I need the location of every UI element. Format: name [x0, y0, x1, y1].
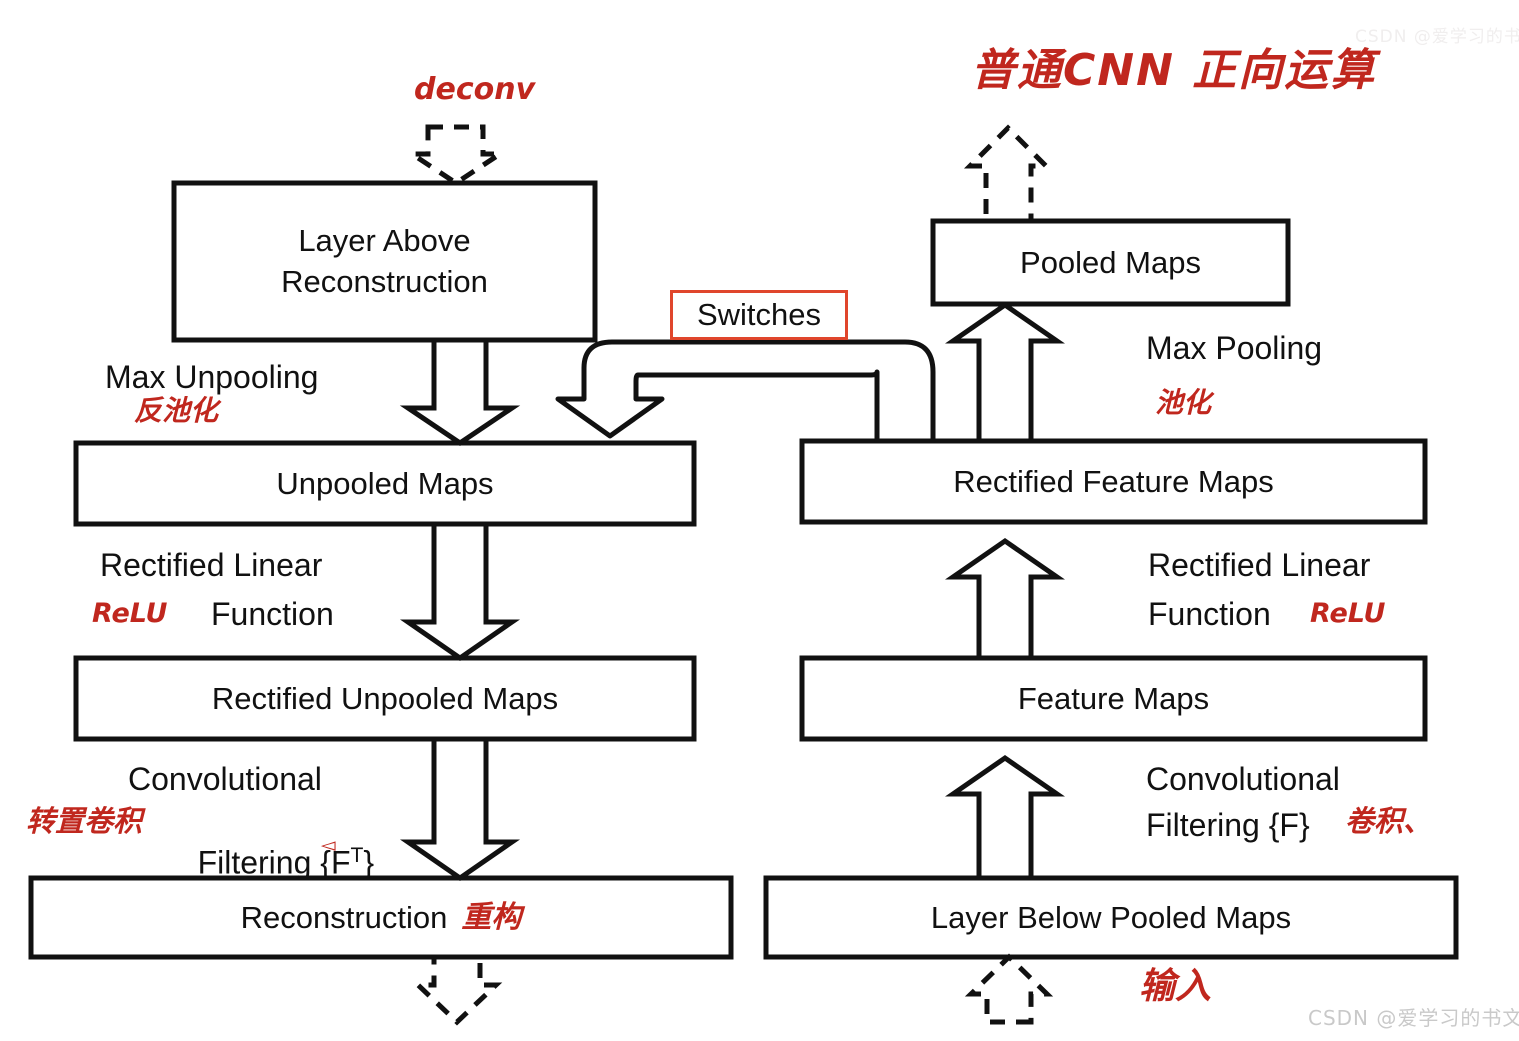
- op-relu-left-cn: ReLU: [92, 600, 167, 628]
- op-relu-right-line1: Rectified Linear: [1148, 548, 1370, 584]
- op-conv-left-cn: 转置卷积: [26, 806, 142, 836]
- op-relu-right-line2: Function: [1148, 597, 1271, 633]
- op-conv-right-line2: Filtering {F}: [1146, 808, 1310, 844]
- box-layer-above-reconstruction: [174, 183, 595, 340]
- op-conv-left-line1: Convolutional: [128, 762, 322, 798]
- arrow-max-unpooling: [408, 340, 512, 443]
- annotation-input: 输入: [1139, 968, 1211, 1006]
- annotation-deconv: deconv: [414, 74, 535, 106]
- op-max-unpooling: Max Unpooling: [105, 360, 318, 396]
- dashed-arrow-reconstruction-output: [418, 957, 496, 1022]
- op-conv-left-line2: Filtering {FT}: [162, 808, 374, 917]
- op-max-unpooling-cn: 反池化: [134, 396, 218, 425]
- annotation-cnn-forward: 普通CNN 正向运算: [971, 48, 1376, 94]
- box-layer-below-pooled-maps: [766, 878, 1456, 957]
- arrow-conv-transpose-left: [408, 739, 512, 878]
- op-max-pooling-cn: 池化: [1155, 388, 1211, 417]
- op-conv-left-superscript: T: [351, 844, 364, 867]
- op-relu-right-cn: ReLU: [1310, 600, 1385, 628]
- op-relu-left-line2: Function: [211, 597, 334, 633]
- watermark-bottom-right: CSDN @爱学习的书文: [1308, 1002, 1519, 1031]
- diagram-canvas: Layer Above Reconstruction Unpooled Maps…: [0, 0, 1519, 1041]
- arrow-conv-right: [953, 758, 1057, 878]
- op-conv-left-brace: }: [363, 844, 374, 880]
- box-pooled-maps: [933, 221, 1288, 304]
- box-reconstruction: [31, 878, 731, 957]
- op-conv-left-mark: ◅: [321, 836, 336, 856]
- dashed-arrow-cnn-forward: [970, 128, 1046, 221]
- box-rectified-unpooled-maps: [76, 658, 694, 739]
- watermark-top-right: CSDN @爱学习的书文: [1355, 22, 1519, 47]
- switches-label-box[interactable]: Switches: [670, 290, 848, 340]
- box-rectified-feature-maps: [802, 441, 1425, 522]
- dashed-arrow-input: [971, 957, 1047, 1022]
- arrow-relu-right: [953, 541, 1057, 658]
- switches-pipe-outline: [558, 342, 933, 441]
- op-relu-left-line1: Rectified Linear: [100, 548, 322, 584]
- op-max-pooling: Max Pooling: [1146, 331, 1322, 367]
- dashed-arrow-deconv: [412, 127, 500, 183]
- box-unpooled-maps: [76, 443, 694, 524]
- op-conv-right-line1: Convolutional: [1146, 762, 1340, 798]
- box-feature-maps: [802, 658, 1425, 739]
- op-conv-right-cn: 卷积、: [1345, 806, 1432, 836]
- arrow-max-pooling: [953, 305, 1057, 441]
- arrow-relu-left: [408, 524, 512, 658]
